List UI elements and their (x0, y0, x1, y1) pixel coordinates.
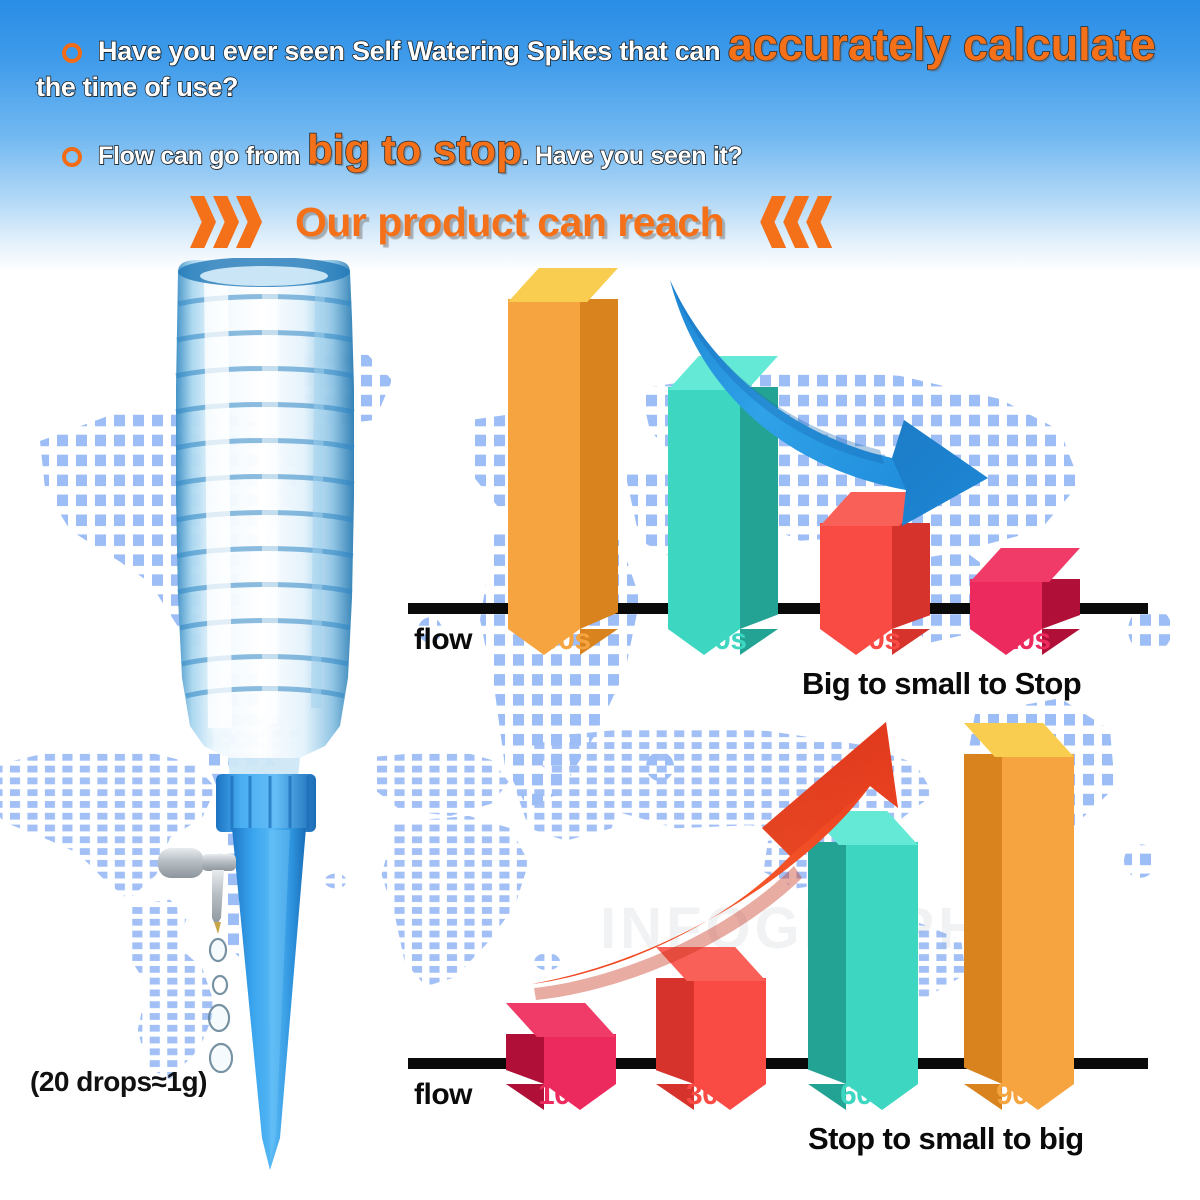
bar-face-side (740, 387, 778, 629)
circle-outline-bullet-icon (62, 43, 82, 63)
header-line-2: the time of use? (36, 72, 238, 103)
header-line-1-emphasis: accurately calculate (728, 19, 1156, 70)
bar-label-60s-bottom: 60s (840, 1078, 889, 1112)
chevron-left-icon (806, 196, 832, 248)
bar-60s-bottom (808, 827, 918, 1084)
bar-face-top (506, 1003, 616, 1037)
bar-face-front (846, 842, 918, 1084)
header-line-2-text: the time of use? (36, 72, 238, 102)
chevron-right-group (190, 196, 259, 248)
bar-face-front (508, 299, 580, 629)
bar-face-top (508, 268, 618, 302)
chevron-right-icon (213, 196, 239, 248)
bar-label-90s-bottom: 90s (996, 1078, 1045, 1112)
bar-face-top (820, 492, 930, 526)
bar-30s-top (820, 508, 930, 629)
infographic-canvas: INFOGRAPHIC Have you ever seen Self Wate… (0, 0, 1200, 1200)
bar-face-front (694, 978, 766, 1084)
headline-text: Our product can reach (295, 199, 724, 246)
bar-face-front (544, 1034, 616, 1084)
bar-face-top (970, 548, 1080, 582)
bar-face-front (970, 579, 1042, 629)
circle-outline-bullet-icon-2 (62, 147, 82, 167)
bar-10s-top (970, 564, 1080, 629)
bar-face-side (892, 523, 930, 629)
header-line-3-suffix: . Have you seen it? (522, 142, 743, 170)
bar-face-top (668, 356, 778, 390)
product-image (120, 258, 410, 1188)
header-line-1: Have you ever seen Self Watering Spikes … (62, 19, 1156, 71)
bar-10s-bottom (506, 1019, 616, 1084)
chevron-left-group (760, 196, 829, 248)
bar-face-top (656, 947, 766, 981)
axis-label-flow-top: flow (414, 623, 472, 657)
drops-note: (20 drops≈1g) (30, 1066, 207, 1098)
bar-label-90s-top: 90s (542, 623, 591, 657)
bar-face-front (1002, 754, 1074, 1084)
bar-face-side (506, 1034, 544, 1084)
bar-face-side (580, 299, 618, 629)
bar-face-top (808, 811, 918, 845)
bar-face-side (656, 978, 694, 1084)
bar-label-10s-bottom: 10s (538, 1078, 587, 1112)
bar-face-side (1042, 579, 1080, 629)
header-line-3-text: Flow can go from (98, 142, 300, 170)
chart-title-top: Big to small to Stop (802, 666, 1081, 702)
chart-big-to-small-to-stop: flow 90s 60s 30s 10s Big to small to Sto… (408, 268, 1200, 708)
bar-label-30s-top: 30s (852, 623, 901, 657)
header-line-3-emphasis: big to stop (307, 126, 522, 173)
bar-label-10s-top: 10s (1002, 623, 1051, 657)
bar-label-60s-top: 60s (698, 623, 747, 657)
bar-30s-bottom (656, 963, 766, 1084)
axis-label-flow-bottom: flow (414, 1078, 472, 1112)
chevron-right-icon (236, 196, 262, 248)
headline-row: Our product can reach (190, 191, 1020, 253)
chart-stop-to-small-to-big: flow 10s 30s 60s 90s Stop to small to bi… (408, 718, 1200, 1200)
chevron-left-icon (760, 196, 786, 248)
bar-face-side (964, 754, 1002, 1084)
chart-title-bottom: Stop to small to big (808, 1121, 1084, 1157)
header-line-3: Flow can go from big to stop. Have you s… (62, 126, 743, 174)
bar-face-side (808, 842, 846, 1084)
bar-face-front (820, 523, 892, 629)
bar-face-top (964, 723, 1074, 757)
bar-90s-bottom (964, 739, 1074, 1084)
bar-60s-top (668, 372, 778, 629)
chevron-right-icon (190, 196, 216, 248)
bar-label-30s-bottom: 30s (686, 1078, 735, 1112)
chevron-left-icon (783, 196, 809, 248)
bar-90s-top (508, 284, 618, 629)
header-line-1-text: Have you ever seen Self Watering Spikes … (98, 36, 720, 66)
bar-face-front (668, 387, 740, 629)
